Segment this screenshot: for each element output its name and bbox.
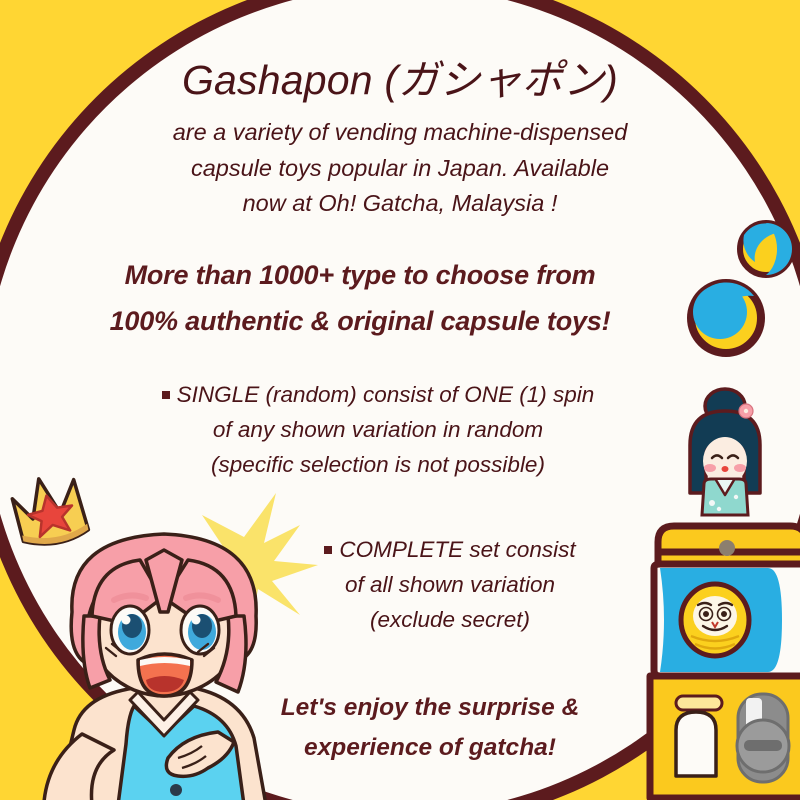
bullet-single-line-3: (specific selection is not possible) xyxy=(118,448,638,483)
headline-line-1: More than 1000+ type to choose from xyxy=(40,252,680,298)
intro-line-2: capsule toys popular in Japan. Available xyxy=(105,151,695,187)
capsule-toy-small xyxy=(735,218,797,280)
kokeshi-doll xyxy=(666,385,784,520)
bullet-single-line-1: SINGLE (random) consist of ONE (1) spin xyxy=(118,378,638,413)
bullet-single-line-2: of any shown variation in random xyxy=(118,413,638,448)
capsule-toy-large xyxy=(684,276,768,360)
intro-paragraph: are a variety of vending machine-dispens… xyxy=(105,115,695,222)
headline-block: More than 1000+ type to choose from 100%… xyxy=(40,252,680,345)
bullet-complete-text-1: COMPLETE set consist xyxy=(339,537,575,562)
page-title: Gashapon (ガシャポン) xyxy=(0,58,800,103)
intro-line-3: now at Oh! Gatcha, Malaysia ! xyxy=(105,186,695,222)
bullet-complete-line-3: (exclude secret) xyxy=(250,603,650,638)
square-bullet-icon xyxy=(162,391,170,399)
gashapon-machine xyxy=(640,508,800,800)
bullet-single: SINGLE (random) consist of ONE (1) spin … xyxy=(118,378,638,483)
headline-line-2: 100% authentic & original capsule toys! xyxy=(40,298,680,344)
bullet-complete-line-1: COMPLETE set consist xyxy=(250,533,650,568)
gashapon-promo-poster: Gashapon (ガシャポン) are a variety of vendin… xyxy=(0,0,800,800)
bullet-complete-line-2: of all shown variation xyxy=(250,568,650,603)
intro-line-1: are a variety of vending machine-dispens… xyxy=(105,115,695,151)
square-bullet-icon xyxy=(324,546,332,554)
bullet-single-text-1: SINGLE (random) consist of ONE (1) spin xyxy=(177,382,595,407)
anime-girl-character xyxy=(22,520,302,800)
bullet-complete: COMPLETE set consist of all shown variat… xyxy=(250,533,650,638)
